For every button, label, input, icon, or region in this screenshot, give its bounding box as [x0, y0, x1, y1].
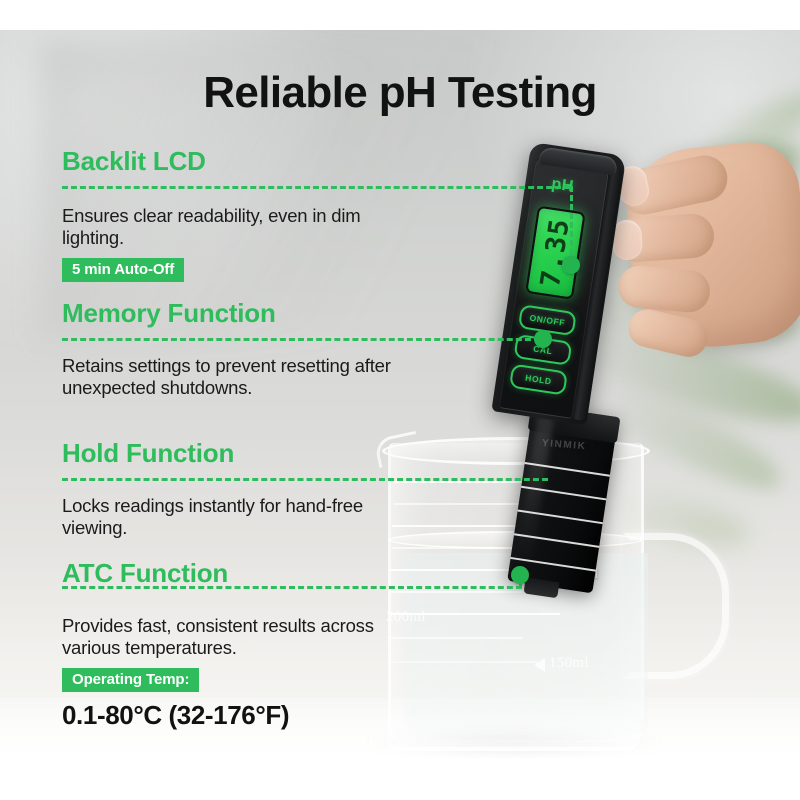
badge-operating-temp: Operating Temp:	[62, 668, 199, 692]
page-title: Reliable pH Testing	[0, 68, 800, 118]
feature-description-atc-function: Provides fast, consistent results across…	[62, 609, 412, 659]
feature-title-hold-function: Hold Function	[62, 440, 382, 467]
feature-hold-function: Hold Function Locks readings instantly f…	[62, 440, 382, 540]
connector-line-backlit-lcd-vertical	[570, 186, 573, 264]
feature-title-memory-function: Memory Function	[62, 300, 392, 327]
feature-memory-function: Memory Function Retains settings to prev…	[62, 300, 392, 400]
feature-title-atc-function: ATC Function	[62, 560, 412, 587]
beaker-mark-arrow-icon	[534, 658, 545, 672]
connector-dot-atc-function	[511, 566, 529, 584]
beaker-tick	[392, 547, 522, 549]
beaker-mark-150ml: 150ml	[549, 655, 589, 672]
beaker-tick	[394, 503, 524, 505]
beaker-base	[386, 713, 640, 751]
connector-dot-memory-function	[534, 330, 552, 348]
ph-probe: YINMIK	[507, 405, 618, 594]
bottom-margin	[0, 758, 800, 800]
badge-auto-off: 5 min Auto-Off	[62, 258, 184, 282]
ph-meter-device: YINMIK pH 7.35 ON/OFF CAL HOLD	[523, 143, 655, 573]
feature-atc-function: ATC Function Provides fast, consistent r…	[62, 560, 412, 731]
product-infographic: 350ml 250ml 200ml 150ml YINMIK	[0, 0, 800, 800]
feature-description-hold-function: Locks readings instantly for hand-free v…	[62, 489, 382, 539]
feature-description-backlit-lcd: Ensures clear readability, even in dim l…	[62, 199, 382, 249]
operating-temp-value: 0.1-80°C (32-176°F)	[62, 692, 412, 731]
feature-backlit-lcd: Backlit LCD Ensures clear readability, e…	[62, 148, 382, 282]
top-margin	[0, 0, 800, 30]
feature-title-backlit-lcd: Backlit LCD	[62, 148, 382, 175]
feature-description-memory-function: Retains settings to prevent resetting af…	[62, 349, 392, 399]
connector-dot-backlit-lcd	[562, 256, 580, 274]
